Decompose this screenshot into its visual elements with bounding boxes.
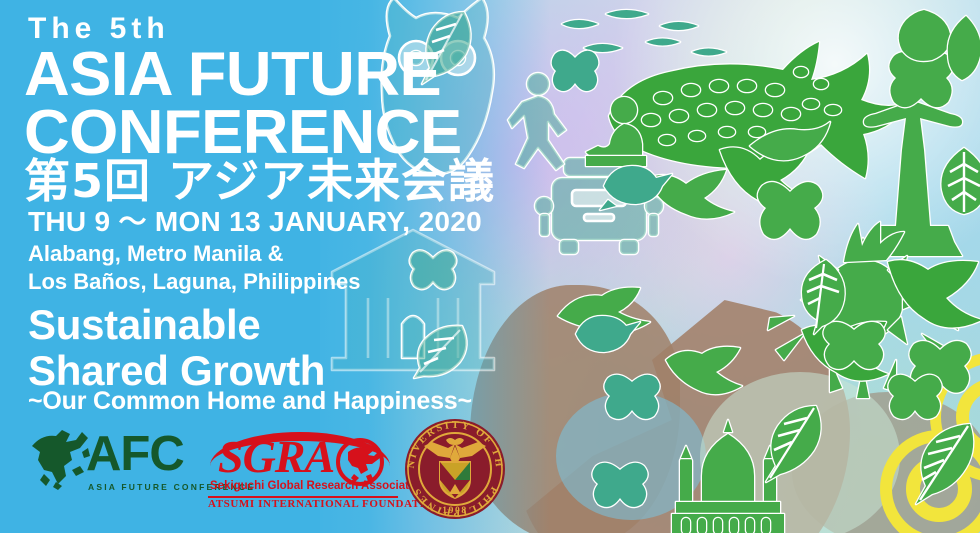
conference-venue: Alabang, Metro Manila & Los Baños, Lagun…: [28, 240, 360, 296]
asia-globe-icon: [26, 426, 92, 492]
venue-line-2: Los Baños, Laguna, Philippines: [28, 268, 360, 296]
up-ring-text-bottom: PHILIPPINES: [506, 418, 507, 419]
asia-globe-icon: [336, 438, 384, 486]
up-year: 1908: [506, 418, 507, 419]
sgra-logo: SGRA Sekiguchi Global Research Associati…: [206, 430, 402, 514]
conference-dates: THU 9 〜 MON 13 JANUARY, 2020: [28, 207, 482, 238]
sgra-association-name: Sekiguchi Global Research Association: [210, 480, 426, 492]
poster-content: The 5th ASIA FUTURE CONFERENCE 第5回 アジア未来…: [0, 0, 980, 533]
conference-poster: The 5th ASIA FUTURE CONFERENCE 第5回 アジア未来…: [0, 0, 980, 533]
title-line-1: ASIA FUTURE: [24, 46, 441, 104]
theme-line-1: Sustainable: [28, 302, 325, 348]
afc-wordmark: AFC: [86, 430, 184, 479]
conference-theme: Sustainable Shared Growth: [28, 302, 325, 394]
university-seal-icon: UNIVERSITY OF THE PHILIPPINES 1908: [404, 418, 506, 520]
svg-text:1908: 1908: [442, 506, 467, 516]
conference-subtheme: ~Our Common Home and Happiness~: [28, 387, 472, 416]
afc-logo: AFC ASIA FUTURE CONFERENCE: [26, 424, 186, 516]
up-logo: UNIVERSITY OF THE PHILIPPINES 1908: [404, 418, 506, 520]
up-ring-text-top: UNIVERSITY OF THE: [506, 418, 507, 419]
sgra-wordmark: SGRA: [218, 434, 334, 480]
venue-line-1: Alabang, Metro Manila &: [28, 240, 360, 268]
title-japanese: 第5回 アジア未来会議: [24, 158, 495, 204]
